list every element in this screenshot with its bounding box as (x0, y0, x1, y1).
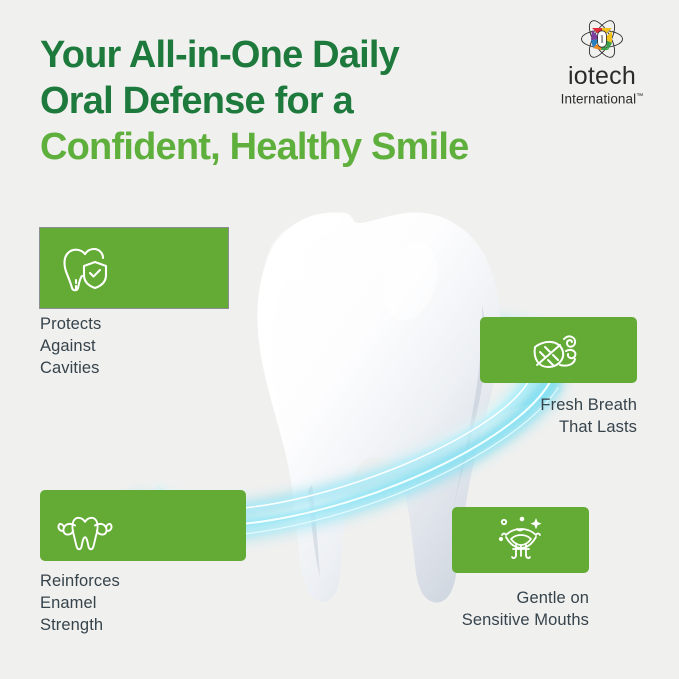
brand-logo: I iotech International™ (543, 16, 661, 108)
mint-leaf-breath-icon (526, 326, 584, 382)
headline-line-1: Your All-in-One Daily (40, 32, 540, 78)
svg-text:I: I (600, 35, 603, 46)
trademark-symbol: ™ (636, 93, 643, 100)
logo-subtitle: International™ (543, 89, 661, 108)
feature-card-label: Gentle on Sensitive Mouths (389, 587, 589, 631)
tooth-flexing-muscles-icon (56, 502, 114, 558)
tooth-shield-check-icon (56, 242, 114, 298)
logo-wordmark: iotech (543, 63, 661, 89)
headline-line-2: Oral Defense for a (40, 78, 540, 124)
product-feature-graphic: Your All-in-One Daily Oral Defense for a… (0, 0, 679, 679)
page-title: Your All-in-One Daily Oral Defense for a… (40, 32, 540, 170)
atom-logo-icon: I (543, 16, 661, 62)
logo-subtitle-text: International (561, 92, 637, 107)
smiling-mouth-sparkle-icon (492, 512, 550, 568)
feature-card-label: Reinforces Enamel Strength (40, 570, 120, 636)
feature-card-label: Fresh Breath That Lasts (437, 394, 637, 438)
feature-card-label: Protects Against Cavities (40, 313, 101, 379)
headline-line-3: Confident, Healthy Smile (40, 124, 540, 170)
